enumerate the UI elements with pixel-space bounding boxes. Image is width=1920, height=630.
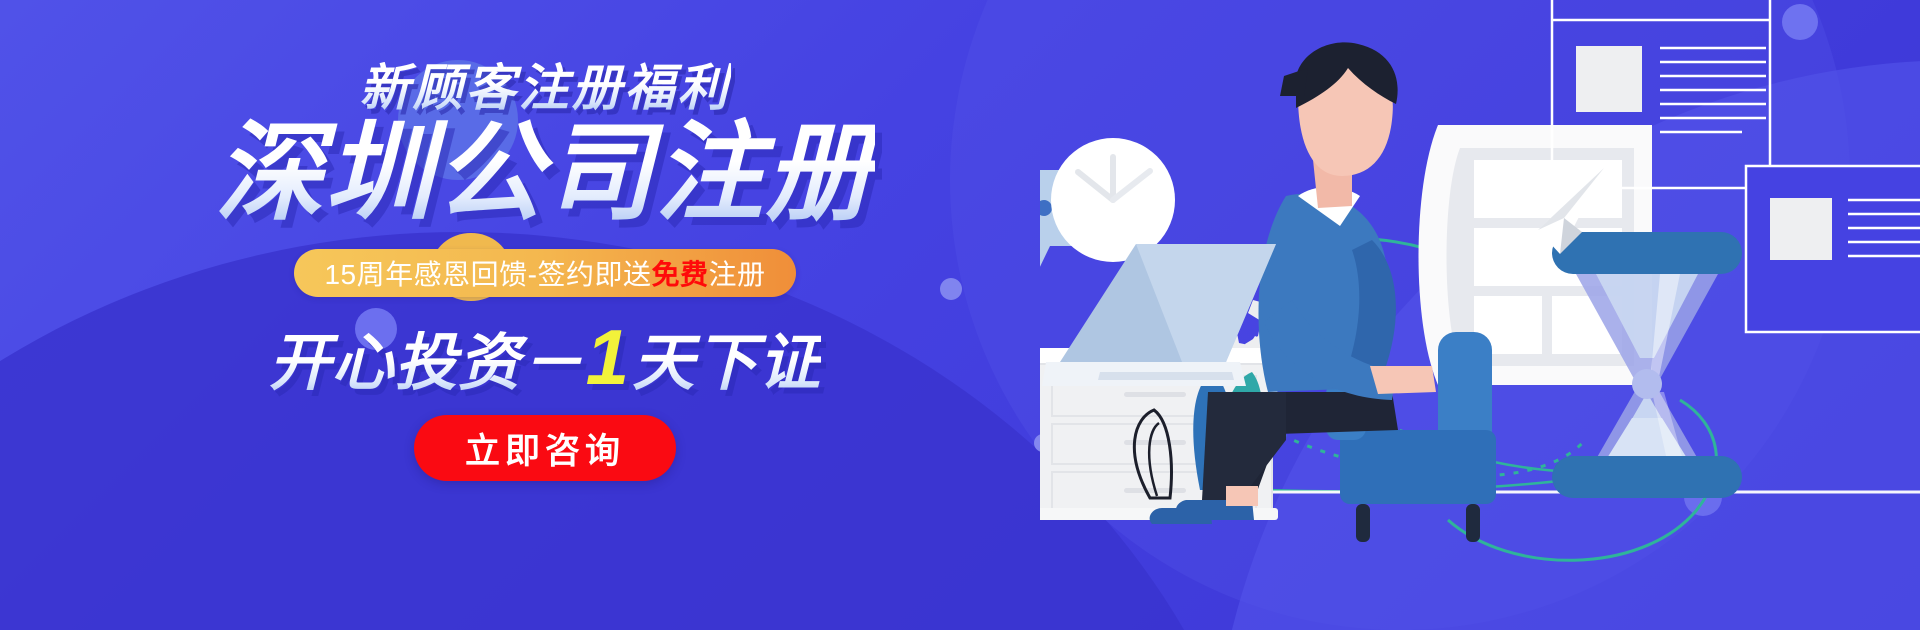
tagline-after: 天下证 (632, 329, 821, 398)
hourglass-cap-top (1552, 232, 1742, 274)
eyebrow-text: 新顾客注册福利 (360, 62, 731, 114)
consult-now-button[interactable]: 立即咨询 (414, 415, 676, 481)
promo-banner: 新顾客注册福利 深圳公司注册 15周年感恩回馈-签约即送免费注册 开心投资－1天… (0, 0, 1920, 630)
document-card-back-lines (1660, 48, 1766, 132)
office-illustration (1040, 0, 1920, 630)
banner-copy: 新顾客注册福利 深圳公司注册 15周年感恩回馈-签约即送免费注册 开心投资－1天… (0, 0, 1090, 630)
page-title: 深圳公司注册 (215, 114, 875, 233)
promo-pill-highlight: 免费 (651, 253, 708, 293)
promo-pill-suffix: 注册 (708, 253, 765, 293)
tagline: 开心投资－1天下证 (269, 315, 821, 399)
tagline-before: 开心投资－ (269, 329, 584, 398)
shoe-back (1150, 508, 1212, 524)
person-hand (1370, 366, 1436, 394)
promo-pill: 15周年感恩回馈-签约即送免费注册 (294, 249, 795, 297)
hourglass-cap-bottom (1552, 456, 1742, 498)
document-card-front (1746, 166, 1920, 332)
promo-pill-prefix: 15周年感恩回馈-签约即送 (324, 253, 651, 293)
tagline-number: 1 (584, 313, 632, 401)
